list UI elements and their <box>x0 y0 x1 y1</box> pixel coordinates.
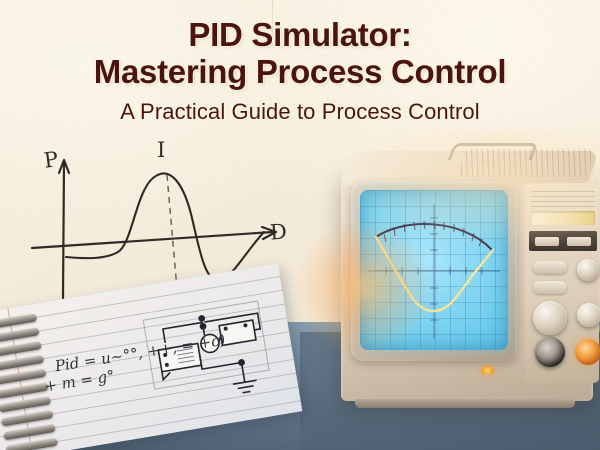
title-block: PID Simulator: Mastering Process Control… <box>0 18 600 125</box>
power-led-indicator <box>481 367 494 374</box>
button-row-housing <box>529 231 597 251</box>
response-curve <box>66 173 264 280</box>
control-panel <box>525 183 599 383</box>
time-div-knob[interactable] <box>577 303 600 327</box>
panel-button-right[interactable] <box>567 237 591 246</box>
p-axis-line <box>63 162 64 298</box>
banana-jack-connector[interactable] <box>575 339 600 365</box>
oscilloscope <box>333 143 600 415</box>
axis-label-i: I <box>157 138 165 162</box>
mode-button-2[interactable] <box>533 281 567 294</box>
page-title-line1: PID Simulator: <box>0 18 600 52</box>
poster-canvas: PID Simulator: Mastering Process Control… <box>0 0 600 450</box>
axis-label-p: P <box>43 147 60 173</box>
bnc-input-connector[interactable] <box>535 337 565 367</box>
crt-bezel <box>351 181 517 361</box>
axis-label-d: D <box>269 219 287 244</box>
crt-screen <box>360 190 508 350</box>
scope-waveform-svg <box>360 190 508 350</box>
panel-legend-text <box>531 191 595 207</box>
position-knob[interactable] <box>577 259 599 281</box>
panel-button-left[interactable] <box>535 237 559 246</box>
d-axis-line <box>32 232 273 248</box>
carry-handle[interactable] <box>448 143 539 160</box>
volts-div-knob[interactable] <box>533 301 567 335</box>
oscilloscope-base <box>355 399 575 408</box>
lcd-display <box>531 211 595 225</box>
mode-button-1[interactable] <box>533 261 567 274</box>
page-title-line2: Mastering Process Control <box>0 55 600 89</box>
page-subtitle: A Practical Guide to Process Control <box>0 99 600 125</box>
